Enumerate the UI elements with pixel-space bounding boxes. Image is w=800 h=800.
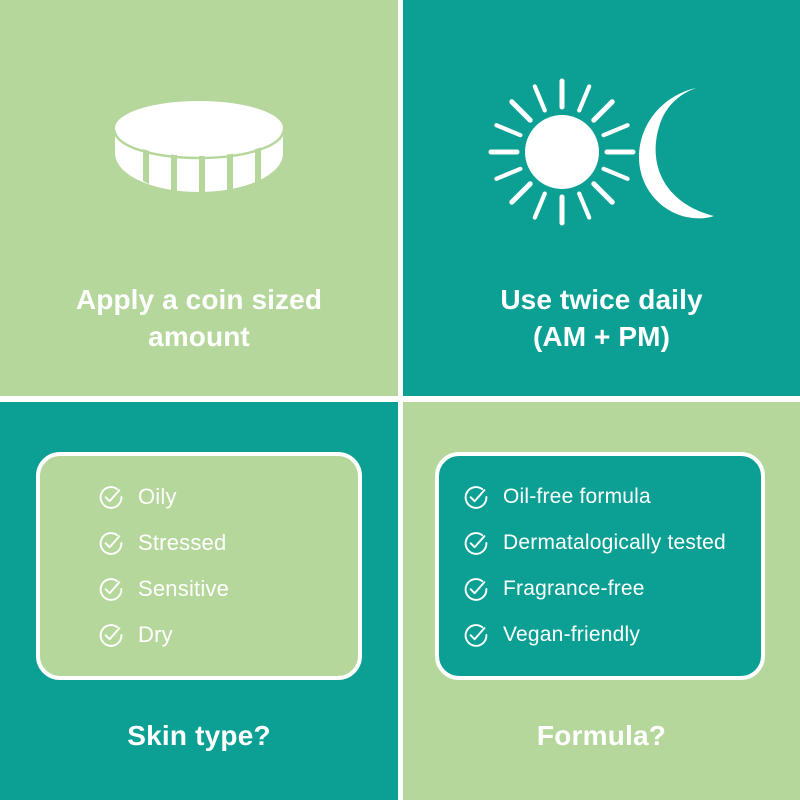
list-item[interactable]: Sensitive — [98, 566, 358, 612]
coin-icon-wrapper — [0, 60, 398, 240]
list-item-label: Sensitive — [138, 576, 229, 602]
list-item-label: Oil-free formula — [503, 485, 651, 509]
panel-skin-type: Oily Stressed Sensitive — [0, 402, 398, 800]
check-circle-icon — [98, 576, 124, 602]
check-circle-icon — [98, 622, 124, 648]
list-item[interactable]: Stressed — [98, 520, 358, 566]
check-circle-icon — [463, 576, 489, 602]
product-usage-infographic: Apply a coin sized amount — [0, 0, 800, 800]
list-item[interactable]: Fragrance-free — [463, 566, 761, 612]
list-item[interactable]: Vegan-friendly — [463, 612, 761, 658]
panel-frequency: Use twice daily (AM + PM) — [403, 0, 800, 396]
check-circle-icon — [463, 484, 489, 510]
coin-icon — [109, 95, 289, 205]
frequency-caption-line1: Use twice daily — [429, 282, 774, 319]
check-circle-icon — [98, 530, 124, 556]
skin-type-label: Skin type? — [0, 720, 398, 752]
list-item[interactable]: Dry — [98, 612, 358, 658]
frequency-caption-line2: (AM + PM) — [429, 319, 774, 356]
check-circle-icon — [463, 530, 489, 556]
list-item-label: Stressed — [138, 530, 226, 556]
check-circle-icon — [98, 484, 124, 510]
formula-label: Formula? — [403, 720, 800, 752]
panel-apply-amount: Apply a coin sized amount — [0, 0, 398, 396]
list-item-label: Dermatalogically tested — [503, 531, 726, 555]
list-item-label: Vegan-friendly — [503, 623, 640, 647]
formula-list-box: Oil-free formula Dermatalogically tested… — [435, 452, 765, 680]
list-item[interactable]: Dermatalogically tested — [463, 520, 761, 566]
check-circle-icon — [463, 622, 489, 648]
moon-icon — [639, 88, 714, 218]
sun-moon-icon-wrapper — [403, 60, 800, 240]
list-item-label: Fragrance-free — [503, 577, 645, 601]
frequency-caption: Use twice daily (AM + PM) — [403, 282, 800, 356]
list-item-label: Oily — [138, 484, 177, 510]
sun-moon-icon — [467, 65, 737, 235]
list-item[interactable]: Oily — [98, 474, 358, 520]
horizontal-divider — [0, 396, 800, 402]
skin-type-list-box: Oily Stressed Sensitive — [36, 452, 362, 680]
apply-caption: Apply a coin sized amount — [0, 282, 398, 356]
sun-icon — [491, 81, 633, 223]
list-item-label: Dry — [138, 622, 173, 648]
panel-formula: Oil-free formula Dermatalogically tested… — [403, 402, 800, 800]
list-item[interactable]: Oil-free formula — [463, 474, 761, 520]
